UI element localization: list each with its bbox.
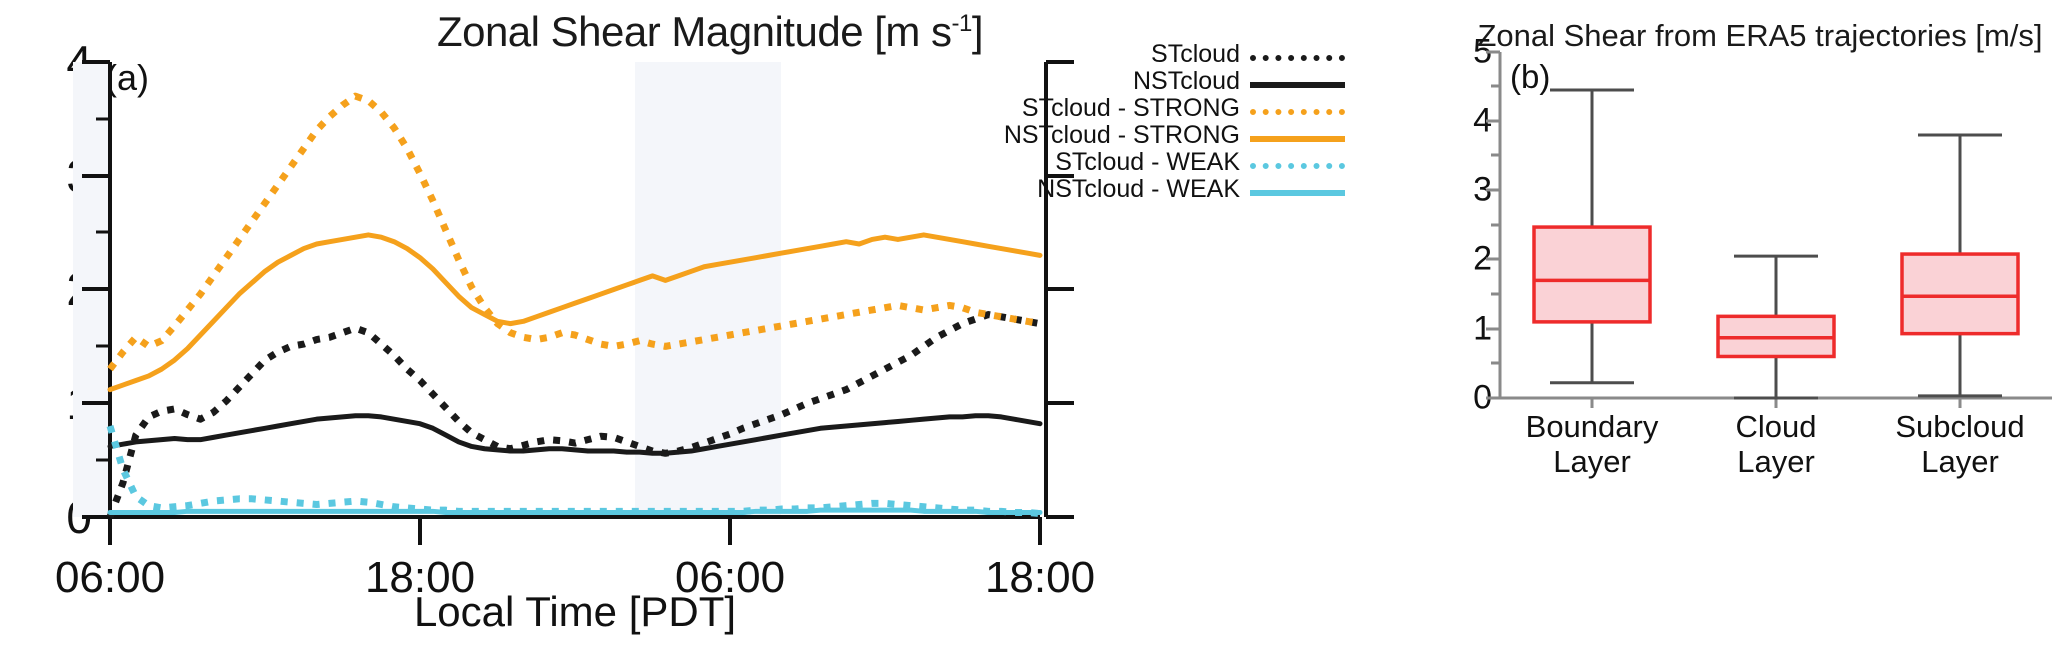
- series-nstcloud-strong: [110, 235, 1040, 390]
- legend-item-nstcloud-weak: NSTcloud - WEAK: [1000, 177, 1345, 202]
- legend-swatch-solid: [1250, 180, 1345, 200]
- panel-b-plot-area: [1440, 0, 2067, 661]
- series-nstcloud-weak: [110, 510, 1040, 512]
- panel-a-series-group: [110, 96, 1040, 517]
- panel-b-x-label-line: Cloud: [1736, 410, 1817, 445]
- panel-b-x-label-line: Subcloud: [1895, 410, 2024, 445]
- panel-b-x-label-subcloud-layer: SubcloudLayer: [1895, 410, 2024, 479]
- panel-a-legend: STcloudNSTcloudSTcloud - STRONGNSTcloud …: [1000, 42, 1345, 204]
- panel-b-x-label-line: Layer: [1736, 445, 1817, 480]
- legend-item-nstcloud-strong: NSTcloud - STRONG: [1000, 123, 1345, 148]
- series-stcloud-strong: [110, 96, 1040, 369]
- series-stcloud-weak: [110, 426, 1040, 514]
- panel-b-x-label-line: Layer: [1895, 445, 2024, 480]
- box-0: [1534, 227, 1650, 322]
- panel-b-x-label-cloud-layer: CloudLayer: [1736, 410, 1817, 479]
- panel-b-x-label-line: Layer: [1526, 445, 1659, 480]
- legend-item-stcloud: STcloud: [1000, 42, 1345, 67]
- legend-swatch-dotted: [1250, 99, 1345, 119]
- legend-label: STcloud: [1151, 40, 1240, 69]
- legend-label: NSTcloud - WEAK: [1037, 175, 1240, 204]
- panel-a: Zonal Shear Magnitude [m s-1] (a) 0 1 2 …: [0, 0, 1440, 661]
- series-stcloud: [110, 315, 1040, 517]
- legend-item-nstcloud: NSTcloud: [1000, 69, 1345, 94]
- legend-item-stcloud-weak: STcloud - WEAK: [1000, 150, 1345, 175]
- legend-label: NSTcloud: [1133, 67, 1240, 96]
- legend-label: STcloud - STRONG: [1022, 94, 1240, 123]
- legend-swatch-solid: [1250, 126, 1345, 146]
- panel-b-x-label-boundary-layer: BoundaryLayer: [1526, 410, 1659, 479]
- legend-swatch-solid: [1250, 72, 1345, 92]
- legend-swatch-dotted: [1250, 153, 1345, 173]
- legend-label: STcloud - WEAK: [1055, 148, 1240, 177]
- legend-item-stcloud-strong: STcloud - STRONG: [1000, 96, 1345, 121]
- series-nstcloud: [110, 416, 1040, 454]
- panel-a-bottom-axis: [110, 517, 1040, 545]
- panel-b-x-tick-labels: BoundaryLayer CloudLayer SubcloudLayer: [1440, 410, 2067, 520]
- figure-canvas: Zonal Shear Magnitude [m s-1] (a) 0 1 2 …: [0, 0, 2067, 661]
- legend-swatch-dotted: [1250, 45, 1345, 65]
- legend-label: NSTcloud - STRONG: [1004, 121, 1240, 150]
- panel-a-x-axis-title: Local Time [PDT]: [110, 588, 1040, 636]
- panel-b-boxes-group: [1534, 90, 2018, 398]
- box-2: [1902, 254, 2018, 334]
- panel-b-x-label-line: Boundary: [1526, 410, 1659, 445]
